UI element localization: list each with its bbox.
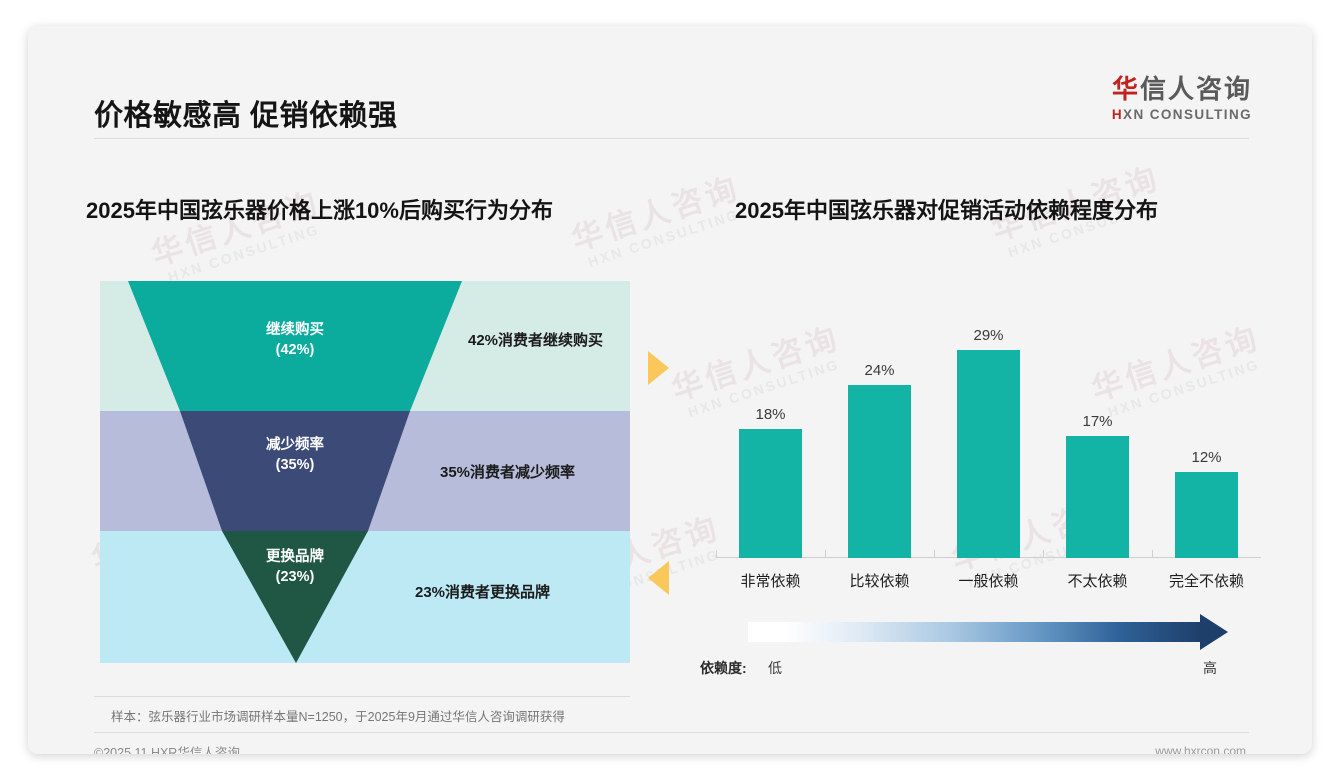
left-chart-title: 2025年中国弦乐器价格上涨10%后购买行为分布: [86, 193, 553, 225]
bar-value-label: 18%: [726, 406, 816, 423]
bar-value-label: 24%: [835, 362, 925, 379]
bar-value-label: 12%: [1162, 449, 1252, 466]
funnel-band-text-0: 42%消费者继续购买: [468, 329, 603, 350]
funnel-segment-label-0: 继续购买 (42%): [220, 321, 370, 360]
bar-category-label: 非常依赖: [716, 570, 826, 591]
legend-high-label: 高: [1203, 658, 1217, 678]
funnel-band-text-2: 23%消费者更换品牌: [415, 581, 550, 602]
footer-website: www.hxrcon.com: [1155, 744, 1246, 754]
bar-column[interactable]: 18%: [726, 406, 816, 558]
funnel-band-text-1: 35%消费者减少频率: [440, 461, 575, 482]
bar-column[interactable]: 24%: [835, 362, 925, 558]
logo-en-red: H: [1112, 107, 1123, 122]
funnel-segment-value-2: (23%): [220, 568, 370, 588]
page-title: 价格敏感高 促销依赖强: [94, 92, 398, 134]
funnel-segment-value-1: (35%): [220, 456, 370, 476]
slide-header: 价格敏感高 促销依赖强 华信人咨询 HXN CONSULTING: [28, 26, 1312, 139]
bar-rect[interactable]: [957, 350, 1020, 558]
axis-tick: [1152, 550, 1153, 558]
bar-category-label: 不太依赖: [1043, 570, 1153, 591]
bar-rect[interactable]: [848, 385, 911, 558]
gradient-arrow-icon: [1200, 614, 1228, 650]
bar-category-label: 比较依赖: [825, 570, 935, 591]
logo-cn-rest: 信人咨询: [1140, 74, 1252, 104]
footnote-divider: [94, 696, 630, 697]
funnel-segment-label-2: 更换品牌 (23%): [220, 548, 370, 587]
funnel-chart: 继续购买 (42%) 减少频率 (35%) 更换品牌 (23%) 42%消费者继…: [100, 281, 630, 663]
header-divider: [94, 138, 1249, 139]
logo-cn-red: 华: [1112, 74, 1140, 104]
gradient-bar: [748, 622, 1200, 642]
brand-logo: 华信人咨询 HXN CONSULTING: [1112, 76, 1252, 122]
funnel-segment-name-0: 继续购买: [220, 321, 370, 341]
slide-canvas: 华信人咨询 HXN CONSULTING 华信人咨询 HXN CONSULTIN…: [28, 26, 1312, 754]
footnote-text: 样本：弦乐器行业市场调研样本量N=1250，于2025年9月通过华信人咨询调研获…: [111, 706, 565, 725]
right-chart-title: 2025年中国弦乐器对促销活动依赖程度分布: [735, 193, 1158, 225]
bar-category-label: 一般依赖: [934, 570, 1044, 591]
axis-tick: [825, 550, 826, 558]
logo-english: HXN CONSULTING: [1112, 107, 1252, 122]
funnel-segment-value-0: (42%): [220, 341, 370, 361]
legend-low-label: 低: [768, 658, 782, 678]
footer-copyright: ©2025.11 HXR华信人咨询: [94, 742, 240, 754]
bar-rect[interactable]: [1066, 436, 1129, 558]
bar-rect[interactable]: [1175, 472, 1238, 558]
watermark-cn: 华信人咨询: [568, 172, 744, 256]
bar-category-label: 完全不依赖: [1152, 570, 1262, 591]
play-right-triangle-icon: [648, 351, 669, 385]
dependency-legend: 依赖度: 低 高: [700, 618, 1260, 680]
play-left-triangle-icon: [648, 561, 669, 595]
watermark-en: HXN CONSULTING: [166, 218, 330, 285]
bar-rect[interactable]: [739, 429, 802, 558]
bar-column[interactable]: 12%: [1162, 449, 1252, 558]
dependency-bar-chart: 18%非常依赖24%比较依赖29%一般依赖17%不太依赖12%完全不依赖: [716, 288, 1261, 588]
funnel-segment-name-2: 更换品牌: [220, 548, 370, 568]
bar-value-label: 17%: [1053, 413, 1143, 430]
funnel-segment-label-1: 减少频率 (35%): [220, 436, 370, 475]
bar-value-label: 29%: [944, 327, 1034, 344]
axis-tick: [934, 550, 935, 558]
legend-title: 依赖度:: [700, 658, 747, 678]
logo-en-rest: XN CONSULTING: [1123, 107, 1252, 122]
logo-chinese: 华信人咨询: [1112, 76, 1252, 103]
axis-tick: [716, 550, 717, 558]
footer-divider: [94, 732, 1249, 733]
bar-column[interactable]: 17%: [1053, 413, 1143, 558]
bar-column[interactable]: 29%: [944, 327, 1034, 558]
watermark-en: HXN CONSULTING: [586, 203, 750, 270]
axis-tick: [1043, 550, 1044, 558]
funnel-segment-name-1: 减少频率: [220, 436, 370, 456]
